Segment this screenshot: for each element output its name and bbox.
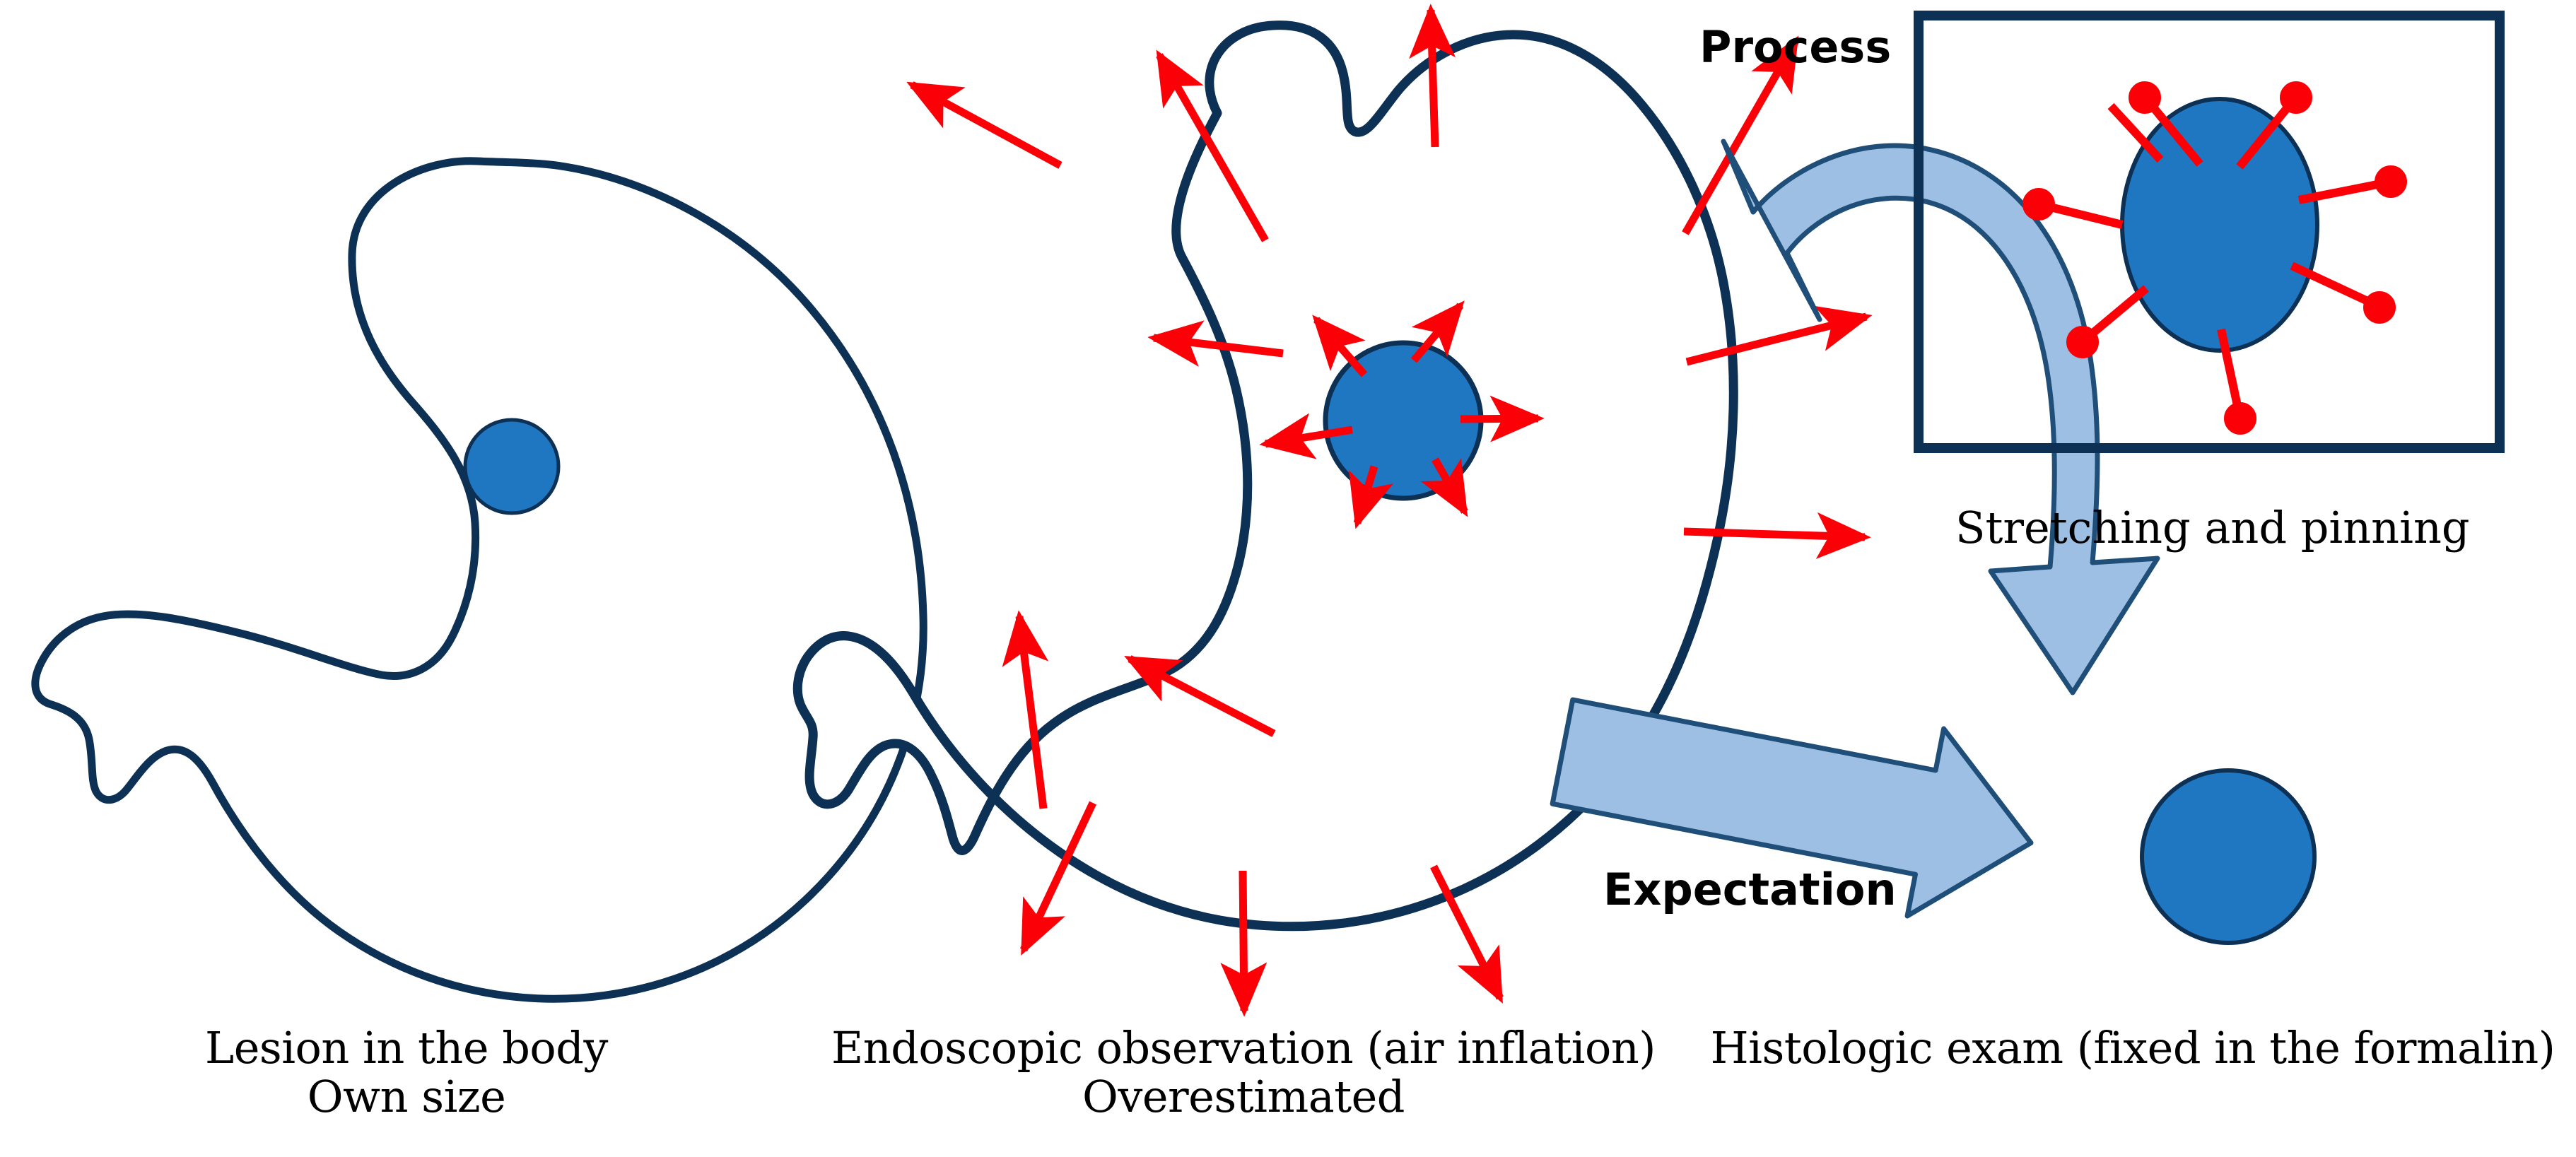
caption-left: Lesion in the body Own size xyxy=(35,1023,778,1122)
lesion-arrow xyxy=(1460,418,1538,419)
stretch-arrow xyxy=(1431,10,1435,147)
lesion-circle-left xyxy=(465,420,558,513)
caption-left-line-2: Own size xyxy=(35,1072,778,1121)
caption-right-line-1: Histologic exam (fixed in the formalin) xyxy=(1690,1023,2576,1072)
stretch-arrow xyxy=(1243,871,1244,1011)
process-curved-arrow xyxy=(1723,141,2158,693)
caption-middle-line-2: Overestimated xyxy=(790,1072,1697,1121)
left-stomach-group xyxy=(35,161,923,999)
caption-right: Histologic exam (fixed in the formalin) xyxy=(1690,1023,2576,1072)
caption-middle: Endoscopic observation (air inflation) O… xyxy=(790,1023,1697,1122)
lesion-ellipse-pinned xyxy=(2122,99,2317,351)
stretching-and-pinning-label: Stretching and pinning xyxy=(1955,502,2470,553)
pin xyxy=(2292,266,2391,319)
diagram-graphics xyxy=(0,0,2576,1157)
lesion-circle-right xyxy=(2142,770,2314,943)
diagram-canvas: Process Expectation Stretching and pinni… xyxy=(0,0,2576,1157)
pin xyxy=(2027,192,2122,225)
expectation-label: Expectation xyxy=(1603,864,1897,915)
caption-left-line-1: Lesion in the body xyxy=(35,1023,778,1072)
caption-middle-line-1: Endoscopic observation (air inflation) xyxy=(790,1023,1697,1072)
pin xyxy=(2299,170,2403,200)
process-label: Process xyxy=(1699,21,1891,73)
right-panel-group xyxy=(1919,16,2500,943)
stomach-outline-left xyxy=(35,161,923,999)
lesion-circle-middle xyxy=(1325,343,1481,498)
middle-stomach-group xyxy=(797,10,1866,1011)
stretch-arrow xyxy=(912,85,1060,165)
